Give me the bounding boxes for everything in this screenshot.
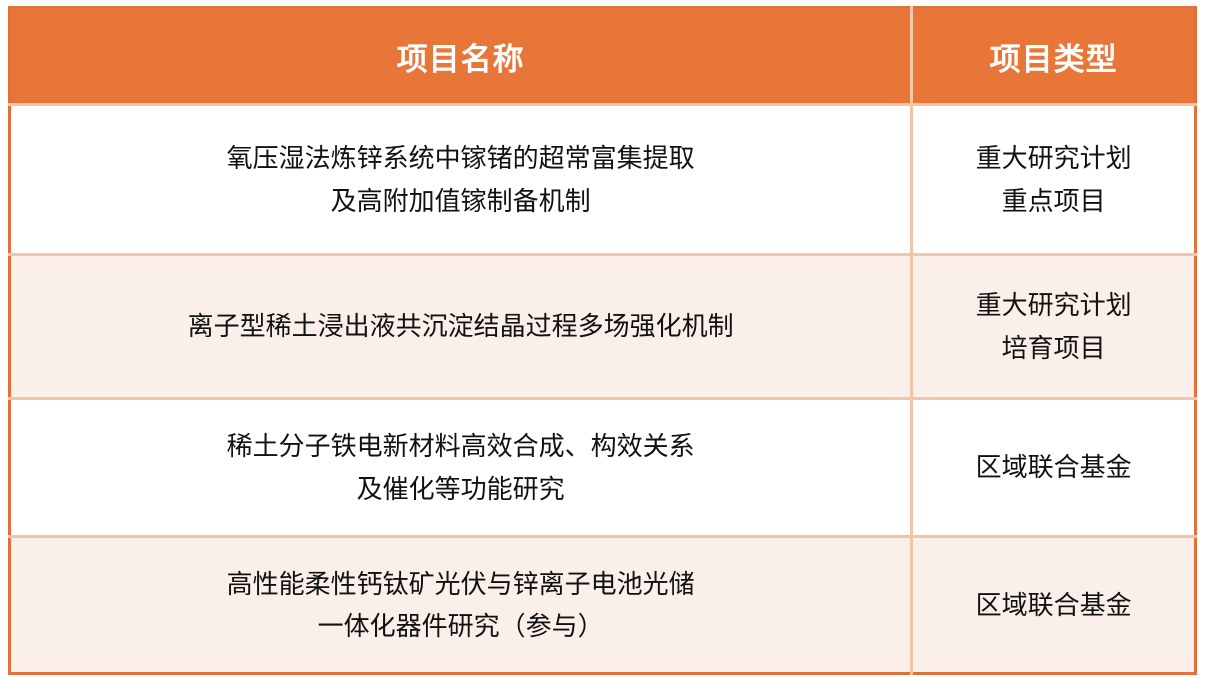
project-type-line: 重点项目 [923,180,1184,222]
project-name-line: 高性能柔性钙钛矿光伏与锌离子电池光储 [21,563,900,605]
project-name-line: 氧压湿法炼锌系统中镓锗的超常富集提取 [21,137,900,179]
cell-project-name: 高性能柔性钙钛矿光伏与锌离子电池光储 一体化器件研究（参与） [10,537,912,674]
project-name-line: 离子型稀土浸出液共沉淀结晶过程多场强化机制 [21,305,900,347]
cell-project-type: 重大研究计划 培育项目 [912,255,1196,399]
project-name-line: 及催化等功能研究 [21,468,900,510]
table-row: 离子型稀土浸出液共沉淀结晶过程多场强化机制 重大研究计划 培育项目 [10,255,1196,399]
cell-project-name: 氧压湿法炼锌系统中镓锗的超常富集提取 及高附加值镓制备机制 [10,105,912,255]
table-row: 高性能柔性钙钛矿光伏与锌离子电池光储 一体化器件研究（参与） 区域联合基金 [10,537,1196,674]
table-header: 项目名称 项目类型 [10,8,1196,105]
cell-project-type: 区域联合基金 [912,537,1196,674]
cell-project-name: 离子型稀土浸出液共沉淀结晶过程多场强化机制 [10,255,912,399]
cell-project-type: 重大研究计划 重点项目 [912,105,1196,255]
table-row: 氧压湿法炼锌系统中镓锗的超常富集提取 及高附加值镓制备机制 重大研究计划 重点项… [10,105,1196,255]
cell-project-type: 区域联合基金 [912,399,1196,537]
project-type-line: 区域联合基金 [923,446,1184,488]
table-row: 稀土分子铁电新材料高效合成、构效关系 及催化等功能研究 区域联合基金 [10,399,1196,537]
project-type-line: 区域联合基金 [923,584,1184,626]
page-root: 项目名称 项目类型 氧压湿法炼锌系统中镓锗的超常富集提取 及高附加值镓制备机制 … [0,0,1210,679]
table-header-row: 项目名称 项目类型 [10,8,1196,105]
project-type-line: 重大研究计划 [923,137,1184,179]
project-name-line: 稀土分子铁电新材料高效合成、构效关系 [21,425,900,467]
project-type-line: 重大研究计划 [923,284,1184,326]
cell-project-name: 稀土分子铁电新材料高效合成、构效关系 及催化等功能研究 [10,399,912,537]
project-name-line: 及高附加值镓制备机制 [21,180,900,222]
projects-table: 项目名称 项目类型 氧压湿法炼锌系统中镓锗的超常富集提取 及高附加值镓制备机制 … [8,6,1197,675]
column-header-project-type: 项目类型 [912,8,1196,105]
project-type-line: 培育项目 [923,327,1184,369]
column-header-project-name: 项目名称 [10,8,912,105]
table-body: 氧压湿法炼锌系统中镓锗的超常富集提取 及高附加值镓制备机制 重大研究计划 重点项… [10,105,1196,674]
project-name-line: 一体化器件研究（参与） [21,605,900,647]
